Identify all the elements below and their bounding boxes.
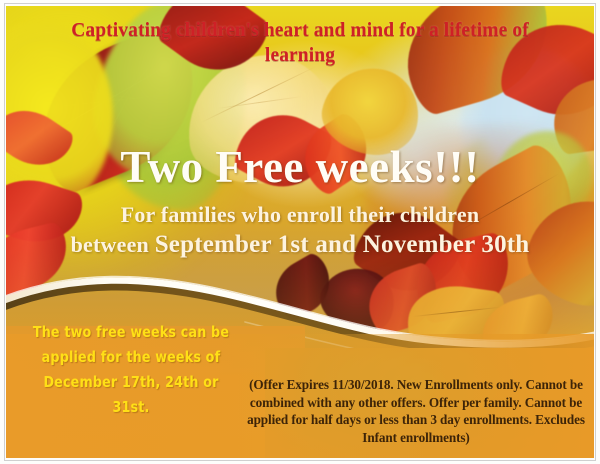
page-title: Captivating children's heart and mind fo… xyxy=(5,18,595,68)
redemption-weeks-note: The two free weeks can be applied for th… xyxy=(24,320,238,420)
subhead-line-1: For families who enroll their children xyxy=(29,200,571,230)
subhead-line-2: between September 1st and November 30th xyxy=(29,230,571,260)
subhead-eligibility: For families who enroll their children b… xyxy=(5,200,595,260)
headline-offer: Two Free weeks!!! xyxy=(5,142,595,192)
subhead-line-2-dates: September 1st and November 30th xyxy=(155,231,530,258)
fine-print-disclaimer: (Offer Expires 11/30/2018. New Enrollmen… xyxy=(241,376,591,446)
promotional-flyer: Captivating children's heart and mind fo… xyxy=(0,0,600,464)
flyer-artwork: Captivating children's heart and mind fo… xyxy=(5,4,595,460)
subhead-line-2-prefix: between xyxy=(71,232,155,257)
